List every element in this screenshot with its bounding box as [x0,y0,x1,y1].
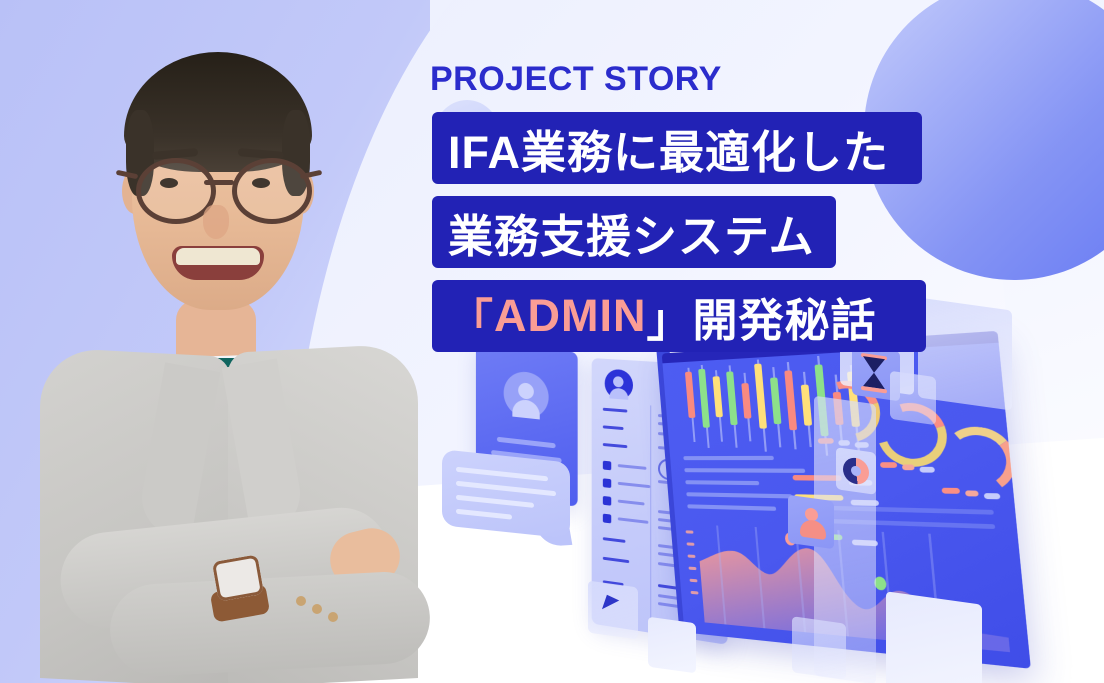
document-line [603,537,626,543]
portrait-button-3 [328,612,338,622]
pie-clock-icon-tile [836,447,876,495]
decor-tile [886,591,982,683]
dashboard-illustration [440,330,980,683]
chart-bar [754,364,767,429]
glasses-bridge [204,180,234,185]
chart-bar [726,371,738,425]
portrait-teeth [176,248,260,265]
axis-tick [691,591,699,595]
cursor-icon-tile [588,580,638,639]
glasses-lens-right [232,158,312,224]
title-line-1-text: IFA業務に最適化した [448,116,889,181]
gauge-legend-pill [965,490,979,496]
hero-banner: PROJECT STORY IFA業務に最適化した 業務支援システム 「ADMI… [0,0,1104,683]
document-bullet [603,478,611,488]
gauge-legend-pill [880,462,897,468]
cursor-pointer-icon [602,595,624,617]
axis-tick [690,579,698,583]
chart-bar [770,377,781,424]
chart-bar [713,376,723,417]
document-divider [650,405,651,623]
document-line [603,425,624,430]
document-line [603,557,629,563]
axis-tick [688,554,696,557]
portrait-button-2 [312,604,322,614]
portrait-photo [0,0,430,683]
title-line-3: 「ADMIN」開発秘話 [432,280,926,352]
title-line-1: IFA業務に最適化した [432,112,922,184]
chart-bar [698,369,710,428]
chart-bar [801,385,812,426]
title-line-2: 業務支援システム [432,196,836,268]
list-line [683,456,774,460]
axis-tick [687,542,695,545]
document-bullet [603,461,611,471]
profile-line [497,437,556,449]
portrait-nose [203,205,229,239]
chart-bar [685,372,696,418]
portrait-watch [212,554,264,601]
gauge-legend-pill [984,493,1001,499]
list-line [687,504,776,511]
decor-tile [648,617,696,674]
document-line [603,443,627,448]
chat-line [456,509,512,520]
title-line-3-suffix: 」開発秘話 [647,284,877,349]
document-line [618,464,647,470]
document-line [618,482,650,488]
title-line-2-text: 業務支援システム [448,200,815,265]
user-avatar-icon [504,370,549,420]
list-line [684,468,805,473]
portrait-button-1 [296,596,306,606]
chat-line [456,495,534,508]
document-line [618,517,648,524]
decor-tile [890,371,936,425]
list-line [685,480,759,485]
gauge-legend-pill [942,488,961,494]
gauge-legend-pill [919,467,935,473]
list-line [686,492,792,498]
chart-bar [784,370,797,430]
pie-chart-icon [843,456,869,486]
document-line [618,500,645,506]
portrait-mouth [172,246,264,280]
document-bullet [603,514,611,524]
person-icon-tile [788,495,834,549]
user-avatar-icon [605,369,633,401]
document-line [603,408,627,413]
person-body [800,518,826,540]
gauge-legend-pill [902,464,915,470]
decor-tile [792,616,846,680]
axis-tick [689,567,697,571]
portrait-arm-lower [108,570,432,679]
title-line-3-accent: ADMIN [494,290,646,342]
title-line-3-prefix: 「 [448,284,494,349]
document-bullet [603,496,611,506]
chart-bar [741,383,751,419]
chat-line [456,467,548,482]
eyebrow-label: PROJECT STORY [430,60,722,99]
chat-bubble [442,449,570,538]
chat-line [456,481,556,497]
axis-tick [686,530,694,533]
